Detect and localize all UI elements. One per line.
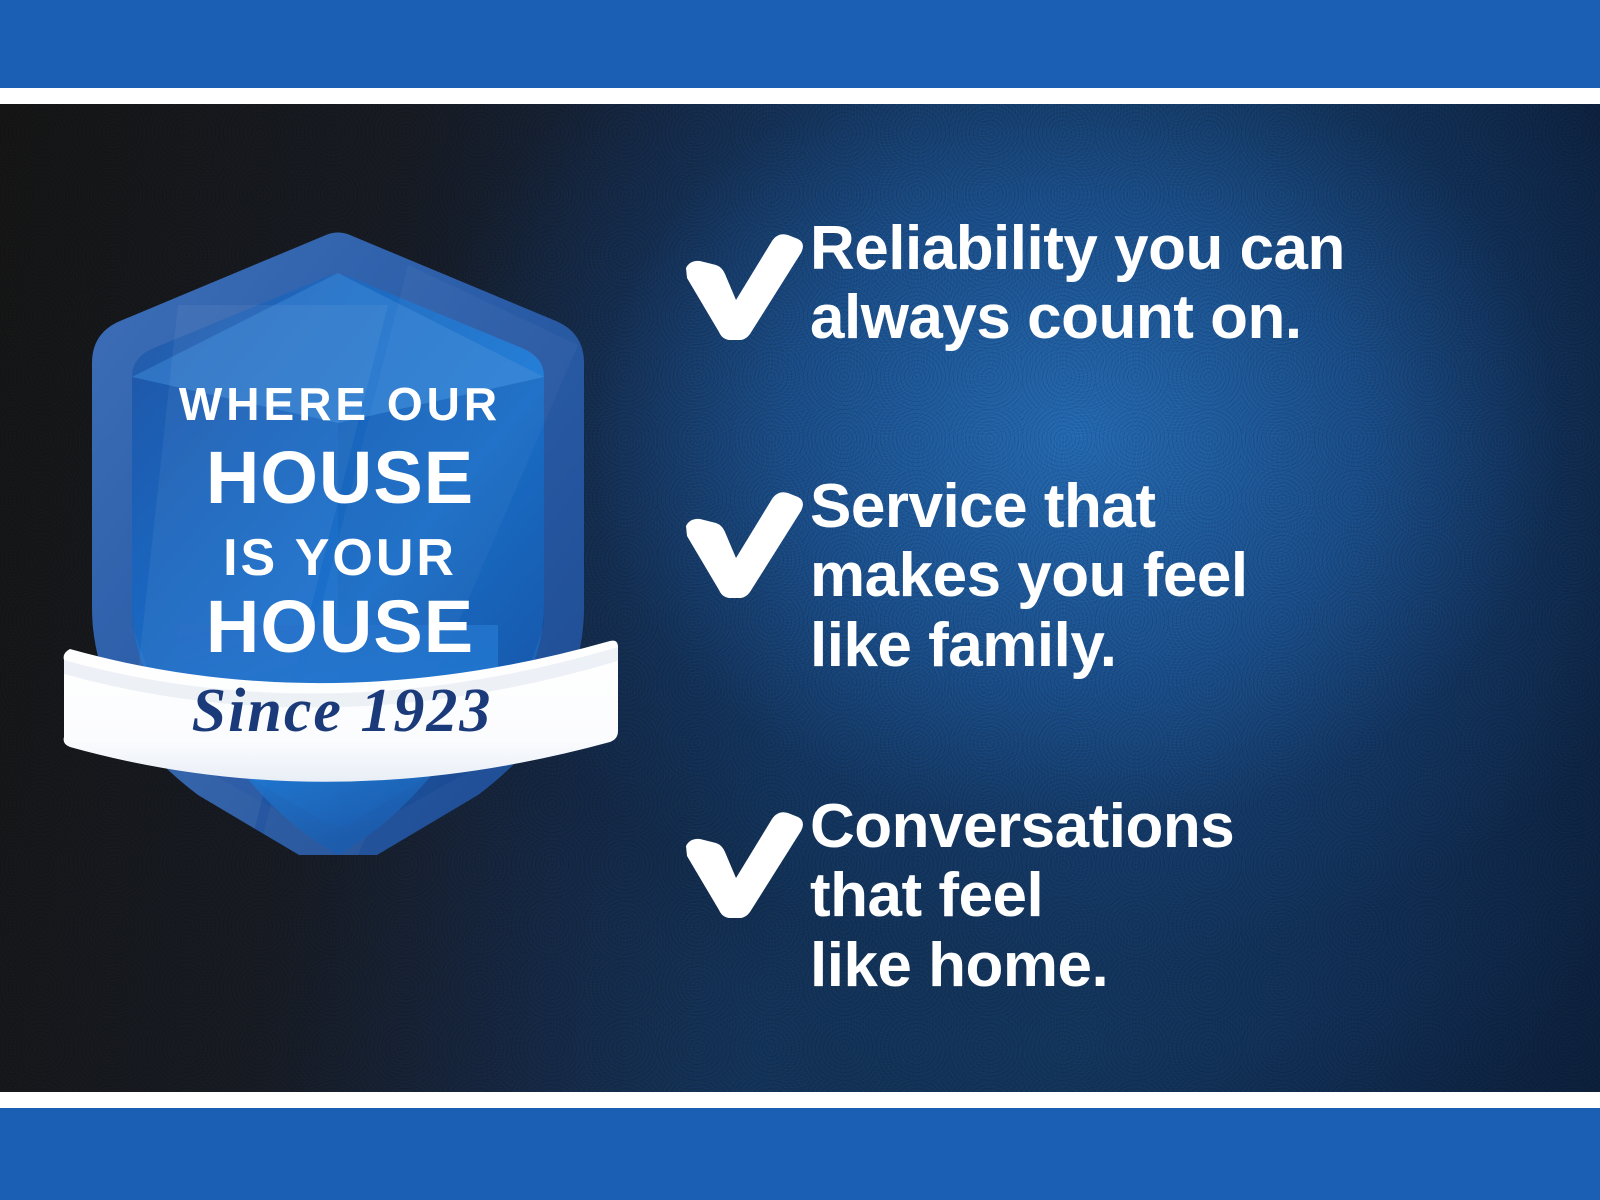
shield-emblem: WHERE OUR HOUSE IS YOUR HOUSE Since 1923 (58, 155, 618, 855)
list-item: Conversations that feel like home. (660, 792, 1234, 1000)
shield-line-4: HOUSE (206, 585, 474, 668)
bottom-brand-bar (0, 1108, 1600, 1200)
shield-line-2: HOUSE (206, 436, 474, 519)
ribbon-since-text: Since 1923 (192, 677, 493, 745)
list-item: Service that makes you feel like family. (660, 472, 1248, 680)
list-item: Reliability you can always count on. (660, 214, 1345, 353)
list-item-label: Conversations that feel like home. (810, 792, 1234, 1000)
top-white-divider (0, 88, 1600, 104)
promo-graphic: WHERE OUR HOUSE IS YOUR HOUSE Since 1923… (0, 0, 1600, 1200)
benefits-list: Reliability you can always count on. Ser… (660, 104, 1600, 1108)
shield-line-1: WHERE OUR (179, 378, 501, 430)
checkmark-icon (660, 798, 810, 918)
list-item-label: Service that makes you feel like family. (810, 472, 1248, 680)
shield-line-3: IS YOUR (223, 529, 457, 587)
checkmark-icon (660, 478, 810, 598)
list-item-label: Reliability you can always count on. (810, 214, 1345, 353)
bottom-white-divider (0, 1092, 1600, 1108)
checkmark-icon (660, 220, 810, 340)
top-brand-bar (0, 0, 1600, 88)
